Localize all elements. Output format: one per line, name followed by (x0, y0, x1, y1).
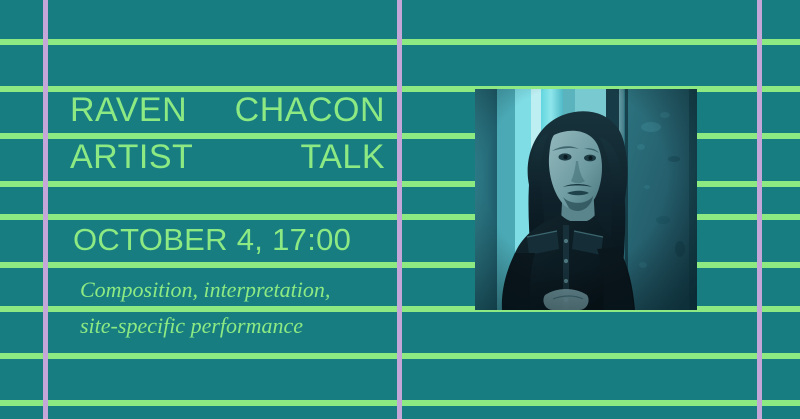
subtitle-line-2: site-specific performance (80, 313, 303, 339)
headline-word-talk: TALK (300, 138, 385, 177)
headline-line-1: RAVEN CHACON (70, 91, 385, 130)
event-date-time: OCTOBER 4, 17:00 (73, 222, 351, 258)
artist-portrait-photo (475, 89, 697, 310)
headline-word-raven: RAVEN (70, 91, 187, 130)
headline-word-chacon: CHACON (235, 91, 385, 130)
subtitle-line-1: Composition, interpretation, (80, 277, 330, 303)
poster-canvas: RAVEN CHACON ARTIST TALK OCTOBER 4, 17:0… (0, 0, 800, 419)
headline-line-2: ARTIST TALK (70, 138, 385, 177)
headline-word-artist: ARTIST (70, 138, 193, 177)
